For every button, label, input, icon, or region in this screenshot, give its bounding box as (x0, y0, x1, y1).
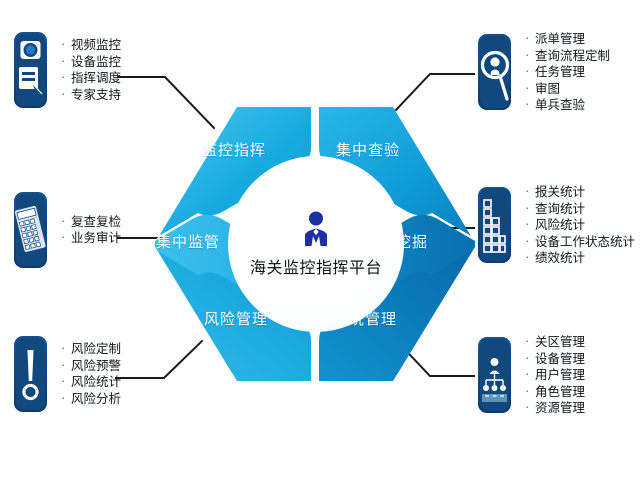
list-video-monitoring: 视频监控 设备监控 指挥调度 专家支持 (59, 37, 121, 103)
list-item[interactable]: 专家支持 (59, 87, 121, 104)
list-item[interactable]: 设备工作状态统计 (523, 234, 635, 251)
list-item[interactable]: 风险预警 (59, 358, 121, 375)
bar-chart-icon (479, 188, 510, 262)
camera-document-icon-badge[interactable] (14, 32, 47, 108)
list-item[interactable]: 关区管理 (523, 334, 585, 351)
list-item[interactable]: 业务审计 (59, 230, 121, 247)
exclamation-icon-badge[interactable] (14, 336, 47, 412)
list-item[interactable]: 设备管理 (523, 351, 585, 368)
hex-label-centralized-supervision[interactable]: 集中监管 (156, 231, 220, 252)
hexagon-wheel: 监控指挥 集中查验 集中监管 数据挖掘 风险管理 系统管理 海关监控指挥平台 (150, 103, 480, 385)
list-dispatch-management: 派单管理 查询流程定制 任务管理 审图 单兵查验 (523, 31, 610, 114)
hex-label-centralized-inspection[interactable]: 集中查验 (336, 139, 400, 160)
camera-document-icon (15, 33, 46, 107)
group-video-monitoring[interactable]: 视频监控 设备监控 指挥调度 专家支持 (14, 32, 121, 108)
list-item[interactable]: 任务管理 (523, 64, 610, 81)
group-dispatch-management[interactable]: 派单管理 查询流程定制 任务管理 审图 单兵查验 (478, 31, 610, 114)
list-item[interactable]: 查询流程定制 (523, 48, 610, 65)
list-item[interactable]: 复查复检 (59, 214, 121, 231)
calculator-icon (15, 193, 46, 267)
list-item[interactable]: 审图 (523, 81, 610, 98)
bar-chart-icon-badge[interactable] (478, 187, 511, 263)
center-hub: 海关监控指挥平台 (228, 156, 404, 332)
org-users-icon (479, 338, 510, 412)
list-item[interactable]: 单兵查验 (523, 97, 610, 114)
list-item[interactable]: 查询统计 (523, 201, 635, 218)
list-item[interactable]: 风险统计 (59, 374, 121, 391)
list-risk-control: 风险定制 风险预警 风险统计 风险分析 (59, 341, 121, 407)
hex-label-monitor-command[interactable]: 监控指挥 (202, 139, 266, 160)
group-risk-control[interactable]: 风险定制 风险预警 风险统计 风险分析 (14, 336, 121, 412)
group-recheck-audit[interactable]: 复查复检 业务审计 (14, 192, 121, 268)
exclamation-icon (15, 337, 46, 411)
magnifier-person-icon (479, 35, 510, 109)
group-system-administration[interactable]: 关区管理 设备管理 用户管理 角色管理 资源管理 (478, 334, 585, 417)
list-item[interactable]: 设备监控 (59, 54, 121, 71)
list-item[interactable]: 风险分析 (59, 391, 121, 408)
list-item[interactable]: 派单管理 (523, 31, 610, 48)
org-users-icon-badge[interactable] (478, 337, 511, 413)
list-system-administration: 关区管理 设备管理 用户管理 角色管理 资源管理 (523, 334, 585, 417)
list-item[interactable]: 绩效统计 (523, 250, 635, 267)
list-item[interactable]: 指挥调度 (59, 70, 121, 87)
list-item[interactable]: 报关统计 (523, 184, 635, 201)
businessman-icon (296, 210, 336, 250)
list-item[interactable]: 风险统计 (523, 217, 635, 234)
list-statistics: 报关统计 查询统计 风险统计 设备工作状态统计 绩效统计 (523, 184, 635, 267)
list-item[interactable]: 角色管理 (523, 384, 585, 401)
magnifier-person-icon-badge[interactable] (478, 34, 511, 110)
list-item[interactable]: 用户管理 (523, 367, 585, 384)
list-item[interactable]: 风险定制 (59, 341, 121, 358)
group-statistics[interactable]: 报关统计 查询统计 风险统计 设备工作状态统计 绩效统计 (478, 184, 635, 267)
platform-title: 海关监控指挥平台 (250, 254, 382, 278)
list-item[interactable]: 视频监控 (59, 37, 121, 54)
list-recheck-audit: 复查复检 业务审计 (59, 214, 121, 247)
list-item[interactable]: 资源管理 (523, 400, 585, 417)
diagram-canvas: 监控指挥 集中查验 集中监管 数据挖掘 风险管理 系统管理 海关监控指挥平台 (0, 0, 640, 480)
calculator-icon-badge[interactable] (14, 192, 47, 268)
